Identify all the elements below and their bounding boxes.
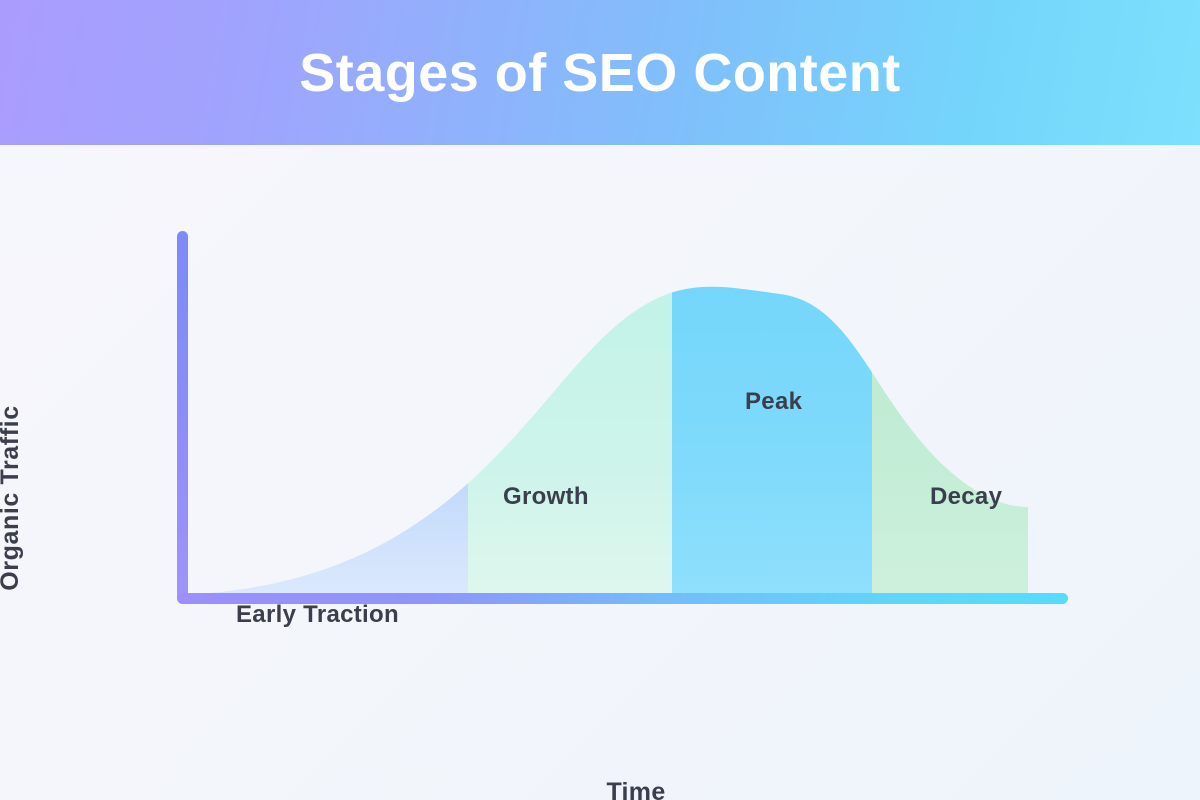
x-axis-title: Time (546, 778, 726, 800)
stage-label-growth: Growth (503, 483, 589, 511)
y-axis-line (177, 231, 188, 603)
infographic-page: Stages of SEO Content (0, 0, 1200, 800)
page-title: Stages of SEO Content (299, 46, 901, 100)
lifecycle-curve-chart (0, 145, 1200, 800)
curve-stage-bands (183, 265, 1032, 597)
band-early-traction (183, 265, 468, 597)
stage-label-decay: Decay (930, 483, 1002, 511)
stage-label-peak: Peak (745, 388, 802, 416)
band-peak (672, 265, 872, 597)
stage-label-early-traction: Early Traction (236, 601, 399, 629)
header-banner: Stages of SEO Content (0, 0, 1200, 145)
band-growth (468, 265, 672, 597)
chart-area: Organic Traffic Time Early Traction Grow… (0, 145, 1200, 800)
y-axis-title: Organic Traffic (0, 373, 25, 623)
band-decay (872, 265, 1032, 597)
